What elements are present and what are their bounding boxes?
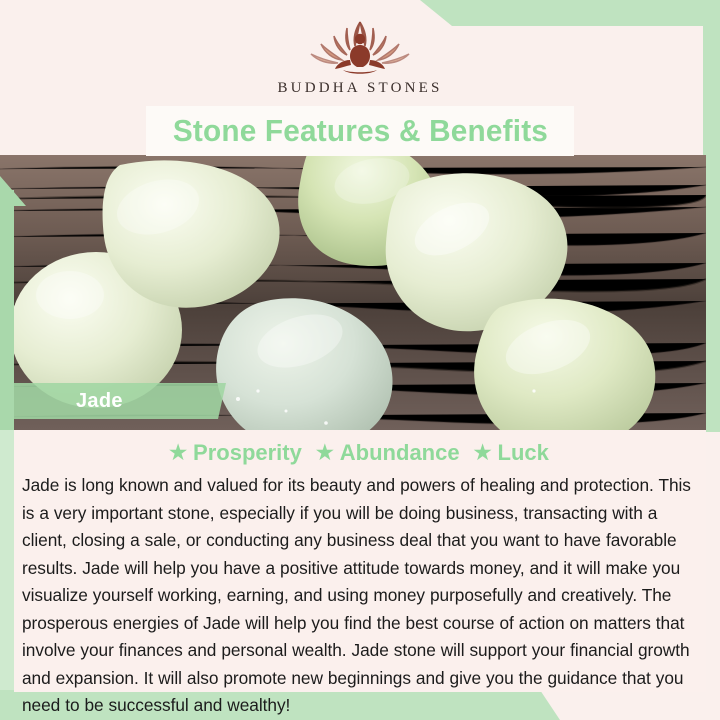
decor-green-left-panel-strip — [0, 430, 14, 692]
content-panel: ★ Prosperity ★ Abundance ★ Luck Jade is … — [14, 430, 706, 692]
description-paragraph: Jade is long known and valued for its be… — [22, 472, 696, 720]
lotus-meditation-icon — [295, 16, 425, 78]
star-icon: ★ — [474, 443, 492, 463]
benefit-label: Prosperity — [193, 440, 302, 466]
benefit-label: Abundance — [340, 440, 460, 466]
benefit-item-luck: ★ Luck — [474, 440, 549, 466]
brand-name: BUDDHA STONES — [277, 80, 442, 97]
infographic-page: BUDDHA STONES Stone Features & Benefits — [0, 0, 720, 720]
benefit-item-prosperity: ★ Prosperity — [169, 440, 302, 466]
benefits-row: ★ Prosperity ★ Abundance ★ Luck — [22, 436, 696, 470]
star-icon: ★ — [169, 443, 187, 463]
decor-green-left-strip — [0, 190, 14, 430]
star-icon: ★ — [316, 443, 334, 463]
page-title: Stone Features & Benefits — [172, 113, 547, 149]
brand-logo: BUDDHA STONES — [0, 16, 720, 104]
benefit-label: Luck — [498, 440, 549, 466]
benefit-item-abundance: ★ Abundance — [316, 440, 460, 466]
stone-name-label: Jade — [76, 390, 123, 413]
title-banner: Stone Features & Benefits — [146, 106, 574, 156]
stone-name-band: Jade — [14, 383, 226, 419]
